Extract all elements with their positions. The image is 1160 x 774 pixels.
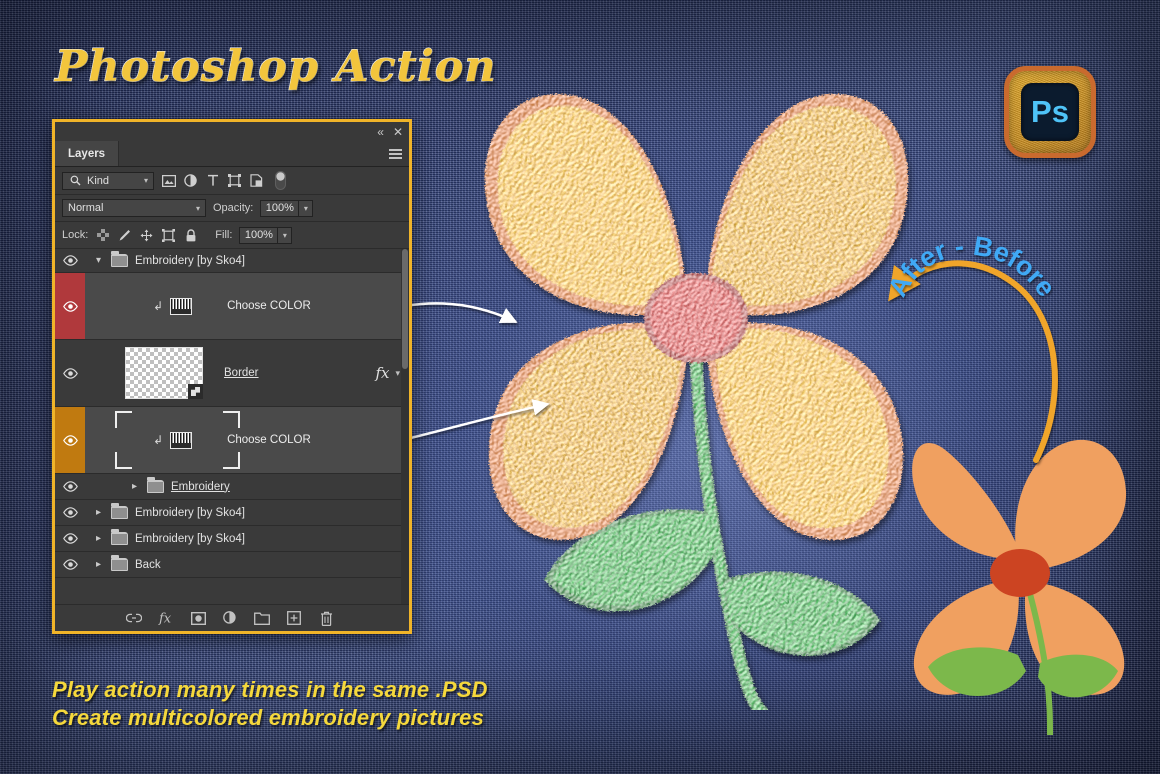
page-title: Photoshop Action bbox=[55, 42, 497, 92]
folder-icon bbox=[111, 558, 128, 571]
folder-icon bbox=[147, 480, 164, 493]
layer-row[interactable]: ▾ Embroidery [by Sko4] bbox=[55, 249, 409, 273]
layer-row[interactable]: ▸ Embroidery [by Sko4] bbox=[55, 500, 409, 526]
lock-artboard-icon[interactable] bbox=[161, 228, 176, 243]
panel-titlebar: « ✕ bbox=[55, 122, 409, 141]
collapse-icon[interactable]: « bbox=[377, 126, 384, 138]
lock-transparent-pixels-icon[interactable] bbox=[95, 228, 110, 243]
caption-line-2: Create multicolored embroidery pictures bbox=[52, 704, 488, 732]
add-layer-mask-icon[interactable] bbox=[190, 610, 206, 626]
visibility-toggle-icon[interactable] bbox=[55, 500, 85, 525]
tab-layers[interactable]: Layers bbox=[55, 141, 119, 166]
fill-label: Fill: bbox=[215, 229, 232, 241]
layer-list-scrollbar[interactable] bbox=[401, 249, 409, 604]
new-group-icon[interactable] bbox=[254, 610, 270, 626]
lock-all-icon[interactable] bbox=[183, 228, 198, 243]
expand-twisty-icon[interactable]: ▸ bbox=[129, 481, 140, 492]
expand-twisty-icon[interactable]: ▸ bbox=[93, 533, 104, 544]
chevron-down-icon[interactable]: ▾ bbox=[395, 368, 400, 379]
expand-twisty-icon[interactable]: ▾ bbox=[93, 255, 104, 266]
gradient-map-thumbnail[interactable] bbox=[170, 298, 192, 315]
scrollbar-thumb[interactable] bbox=[402, 249, 408, 369]
layer-row[interactable]: ▸ Embroidery [by Sko4] bbox=[55, 526, 409, 552]
layer-row-body[interactable]: ▸ Embroidery [by Sko4] bbox=[85, 526, 409, 551]
hamburger-menu-icon[interactable] bbox=[389, 149, 402, 159]
layer-effects-group[interactable]: fx ▾ bbox=[375, 364, 400, 382]
bottom-caption: Play action many times in the same .PSD … bbox=[52, 676, 488, 732]
layers-panel[interactable]: « ✕ Layers Kind ▾ bbox=[52, 119, 412, 634]
panel-bottom-toolbar[interactable]: fx bbox=[55, 604, 409, 631]
layer-name[interactable]: Embroidery [by Sko4] bbox=[135, 255, 245, 267]
layer-row[interactable]: ▸ Embroidery bbox=[55, 474, 409, 500]
visibility-toggle-icon[interactable] bbox=[55, 552, 85, 577]
visibility-toggle-icon[interactable] bbox=[55, 407, 85, 473]
caption-line-1: Play action many times in the same .PSD bbox=[52, 676, 488, 704]
layer-row-body[interactable]: ▸ Back bbox=[85, 552, 409, 577]
search-icon bbox=[68, 173, 83, 188]
close-icon[interactable]: ✕ bbox=[393, 126, 403, 138]
photoshop-badge-label: Ps bbox=[1021, 83, 1079, 141]
layer-row-body[interactable]: ▸ Embroidery bbox=[85, 474, 409, 499]
svg-text:fx: fx bbox=[158, 612, 172, 627]
layer-name[interactable]: Embroidery bbox=[171, 481, 230, 493]
filter-kind-label: Kind bbox=[87, 175, 109, 187]
fill-input[interactable]: 100% bbox=[239, 227, 278, 244]
opacity-label: Opacity: bbox=[213, 202, 253, 214]
panel-tab-row: Layers bbox=[55, 141, 409, 167]
layer-name[interactable]: Embroidery [by Sko4] bbox=[135, 533, 245, 545]
smart-object-filter-icon[interactable] bbox=[249, 173, 264, 188]
folder-icon bbox=[111, 254, 128, 267]
new-layer-icon[interactable] bbox=[286, 610, 302, 626]
type-filter-icon[interactable] bbox=[205, 173, 220, 188]
chevron-down-icon[interactable]: ▾ bbox=[144, 176, 148, 185]
filter-row: Kind ▾ bbox=[55, 167, 409, 195]
layer-row[interactable]: ↳ Choose COLOR bbox=[55, 273, 409, 340]
visibility-toggle-icon[interactable] bbox=[55, 340, 85, 406]
filter-kind-select[interactable]: Kind ▾ bbox=[62, 172, 154, 190]
embroidered-flower-after bbox=[440, 60, 940, 710]
visibility-toggle-icon[interactable] bbox=[55, 249, 85, 272]
folder-icon bbox=[111, 532, 128, 545]
layer-name[interactable]: Choose COLOR bbox=[227, 434, 311, 446]
visibility-toggle-icon[interactable] bbox=[55, 526, 85, 551]
visibility-toggle-icon[interactable] bbox=[55, 474, 85, 499]
layer-name[interactable]: Embroidery [by Sko4] bbox=[135, 507, 245, 519]
lock-label: Lock: bbox=[62, 229, 88, 241]
layer-row-body[interactable]: ↳ Choose COLOR bbox=[85, 273, 409, 339]
blend-mode-value: Normal bbox=[68, 202, 103, 214]
clipping-mask-icon: ↳ bbox=[153, 433, 163, 447]
layer-list[interactable]: ▾ Embroidery [by Sko4] ↳ Choose COLOR bbox=[55, 249, 409, 604]
vector-flower-before bbox=[900, 405, 1140, 735]
opacity-chevron-down-icon[interactable]: ▾ bbox=[299, 200, 313, 217]
layer-row[interactable]: ▸ Back bbox=[55, 552, 409, 578]
folder-icon bbox=[111, 506, 128, 519]
lock-image-pixels-icon[interactable] bbox=[117, 228, 132, 243]
blend-row: Normal ▾ Opacity: 100% ▾ bbox=[55, 195, 409, 222]
gradient-map-thumbnail[interactable] bbox=[170, 432, 192, 449]
layer-style-fx-icon[interactable]: fx bbox=[375, 364, 389, 382]
adjustment-filter-icon[interactable] bbox=[183, 173, 198, 188]
lock-position-icon[interactable] bbox=[139, 228, 154, 243]
layer-row[interactable]: ↳ Choose COLOR bbox=[55, 407, 409, 474]
link-layers-icon[interactable] bbox=[126, 610, 142, 626]
layer-thumbnail[interactable] bbox=[125, 347, 203, 399]
layer-name[interactable]: Border bbox=[224, 367, 259, 379]
clipping-mask-icon: ↳ bbox=[153, 299, 163, 313]
layer-row-body[interactable]: ▾ Embroidery [by Sko4] bbox=[85, 249, 409, 272]
visibility-toggle-icon[interactable] bbox=[55, 273, 85, 339]
opacity-input[interactable]: 100% bbox=[260, 200, 299, 217]
lock-row: Lock: Fill: 100% ▾ bbox=[55, 222, 409, 249]
layer-style-fx-icon[interactable]: fx bbox=[158, 610, 174, 626]
filter-toggle-switch[interactable] bbox=[273, 173, 288, 188]
fill-chevron-down-icon[interactable]: ▾ bbox=[278, 227, 292, 244]
delete-layer-icon[interactable] bbox=[318, 610, 334, 626]
chevron-down-icon[interactable]: ▾ bbox=[196, 204, 200, 213]
layer-row-body[interactable]: ↳ Choose COLOR bbox=[85, 407, 409, 473]
smart-object-badge-icon bbox=[188, 384, 203, 399]
photoshop-badge: Ps bbox=[1004, 66, 1096, 158]
layer-name[interactable]: Choose COLOR bbox=[227, 300, 311, 312]
layer-row-body[interactable]: ▸ Embroidery [by Sko4] bbox=[85, 500, 409, 525]
new-adjustment-layer-icon[interactable] bbox=[222, 610, 238, 626]
blend-mode-select[interactable]: Normal ▾ bbox=[62, 199, 206, 217]
layer-name[interactable]: Back bbox=[135, 559, 161, 571]
layer-row[interactable]: Border fx ▾ bbox=[55, 340, 409, 407]
image-filter-icon[interactable] bbox=[161, 173, 176, 188]
layer-row-body[interactable]: Border fx ▾ bbox=[85, 340, 409, 406]
expand-twisty-icon[interactable]: ▸ bbox=[93, 559, 104, 570]
shape-filter-icon[interactable] bbox=[227, 173, 242, 188]
expand-twisty-icon[interactable]: ▸ bbox=[93, 507, 104, 518]
